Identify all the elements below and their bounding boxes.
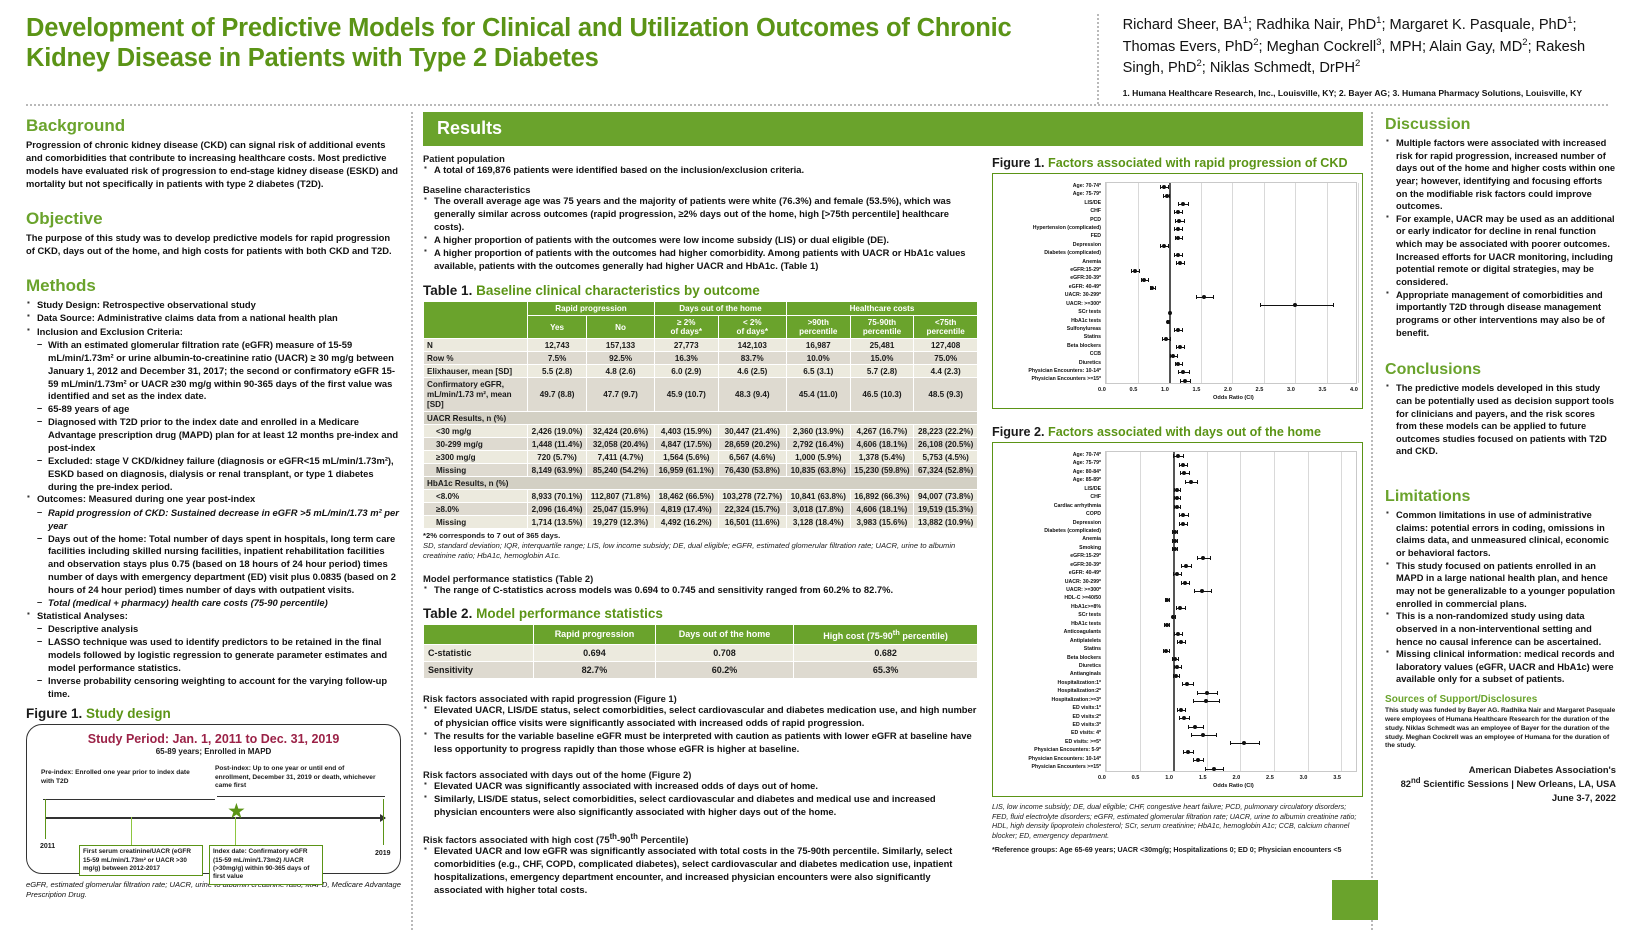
ci-cap [1184, 261, 1185, 265]
ci-cap [1188, 513, 1189, 517]
table2-row-label: C-statistic [424, 644, 534, 661]
table1-row-label: 30-299 mg/g [424, 438, 528, 451]
table1-cell: 94,007 (73.8%) [914, 490, 978, 503]
table2-body: C-statistic0.6940.7080.682Sensitivity82.… [424, 644, 978, 678]
forest-category-label: Depression [997, 519, 1105, 527]
list-item: Elevated UACR was significantly associat… [423, 780, 978, 793]
table1-cell: 15.0% [850, 352, 914, 365]
forest-category-label: UACR: 30-299* [997, 578, 1105, 586]
title-block: Development of Predictive Models for Cli… [26, 14, 1097, 104]
gridline [1232, 183, 1233, 383]
x-axis-tick-label: 2.0 [1224, 387, 1232, 393]
figure1-title: Factors associated with rapid progressio… [1048, 156, 1348, 170]
discussion-list: Multiple factors were associated with in… [1385, 137, 1616, 339]
odds-ratio-point [1204, 699, 1208, 703]
odds-ratio-point [1162, 185, 1166, 189]
ci-cap [1188, 202, 1189, 206]
odds-ratio-point [1177, 219, 1181, 223]
ci-cap [1177, 354, 1178, 358]
table1-cell: 6,567 (4.6%) [718, 451, 786, 464]
forest-category-label: Anemia [997, 535, 1105, 543]
study-design-figure: Study Period: Jan. 1, 2011 to Dec. 31, 2… [26, 724, 401, 874]
ci-cap [1179, 522, 1180, 526]
table1-cell: 8,933 (70.1%) [528, 490, 587, 503]
list-item: Diagnosed with T2D prior to the index da… [37, 416, 401, 455]
forest-category-label: Age: 80-84* [997, 468, 1105, 476]
table-row: HbA1c Results, n (%) [424, 477, 978, 490]
ci-cap [1181, 572, 1182, 576]
baseline-characteristics-table: Rapid progressionDays out of the homeHea… [423, 301, 978, 529]
table1-caption: Table 1. Baseline clinical characteristi… [423, 283, 978, 298]
gridline [1327, 183, 1328, 383]
list-item: Rapid progression of CKD: Sustained decr… [37, 507, 401, 533]
odds-ratio-point [1178, 261, 1182, 265]
ci-cap [1184, 345, 1185, 349]
table1-cell: 6.0 (2.9) [654, 365, 718, 378]
forest-plot-2: Age: 70-74*Age: 75-79*Age: 80-84*Age: 85… [997, 447, 1358, 792]
table-row: ≥8.0%2,096 (16.4%)25,047 (15.9%)4,819 (1… [424, 503, 978, 516]
ci-cap [1177, 530, 1178, 534]
ci-cap [1174, 210, 1175, 214]
rf-cost-list: Elevated UACR and low eGFR was significa… [423, 845, 978, 897]
ci-cap [1176, 606, 1177, 610]
table1-cell: 16,959 (61.1%) [654, 464, 718, 477]
x-axis-tick-label: 0.5 [1132, 775, 1140, 781]
table1-cell: 45.9 (10.7) [654, 378, 718, 412]
ci-cap [1181, 665, 1182, 669]
table1-body: N12,743157,13327,773142,10316,98725,4811… [424, 339, 978, 529]
forest-category-label: Age: 70-74* [997, 451, 1105, 459]
baseline-heading: Baseline characteristics [423, 184, 978, 195]
sources-heading: Sources of Support/Disclosures [1385, 694, 1616, 705]
ci-cap [1219, 699, 1220, 703]
figure-title: Study design [86, 706, 171, 721]
table-row: Missing1,714 (13.5%)19,279 (12.3%)4,492 … [424, 516, 978, 529]
odds-ratio-point [1162, 244, 1166, 248]
odds-ratio-point [1173, 539, 1177, 543]
table2-col-header: High cost (75-90th percentile) [794, 624, 978, 644]
forest-category-label: Age: 75-79* [997, 459, 1105, 467]
table-row: ≥300 mg/g720 (5.7%)7,411 (4.7%)1,564 (5.… [424, 451, 978, 464]
forest-axis-labels: Age: 70-74*Age: 75-79*LIS/DECHFPCDHypert… [997, 182, 1105, 384]
ci-cap [1182, 210, 1183, 214]
list-item: Common limitations in use of administrat… [1385, 509, 1616, 560]
table1-cell: 142,103 [718, 339, 786, 352]
forest-category-label: Depression [997, 241, 1105, 249]
ci-cap [1139, 269, 1140, 273]
table1-row-label: Row % [424, 352, 528, 365]
table2-cell: 82.7% [534, 661, 656, 678]
forest-category-label: LIS/DE [997, 485, 1105, 493]
post-index-arrow [217, 796, 385, 797]
odds-ratio-point [1164, 337, 1168, 341]
table1-cell: 2,426 (19.0%) [528, 425, 587, 438]
table1-cell: 2,792 (16.4%) [786, 438, 850, 451]
table-row: N12,743157,13327,773142,10316,98725,4811… [424, 339, 978, 352]
forest-category-label: LIS/DE [997, 199, 1105, 207]
gridline [1240, 452, 1241, 771]
table1-section-label: HbA1c Results, n (%) [424, 477, 978, 490]
odds-ratio-point [1242, 741, 1246, 745]
odds-ratio-point [1196, 758, 1200, 762]
poster-header: Development of Predictive Models for Cli… [0, 0, 1634, 104]
list-item: A higher proportion of patients with the… [423, 234, 978, 247]
forest-category-label: Physician Encounters: 5-9* [997, 746, 1105, 754]
forest-category-label: Diuretics [997, 359, 1105, 367]
ci-cap [1168, 244, 1169, 248]
table1-cell: 10,835 (63.8%) [786, 464, 850, 477]
table1-col-header: < 2%of days* [718, 316, 786, 339]
methods-list: Study Design: Retrospective observationa… [26, 299, 401, 339]
table1-cell: 10,841 (63.8%) [786, 490, 850, 503]
table1-cell: 8,149 (63.9%) [528, 464, 587, 477]
table1-cell: 4,492 (16.2%) [654, 516, 718, 529]
list-item: Descriptive analysis [37, 623, 401, 636]
list-item: Multiple factors were associated with in… [1385, 137, 1616, 213]
x-axis-tick-label: 3.5 [1319, 387, 1327, 393]
forest-category-label: Diabetes (complicated) [997, 249, 1105, 257]
odds-ratio-point [1182, 716, 1186, 720]
forest-category-label: Antianginals [997, 670, 1105, 678]
methods-outcomes: Outcomes: Measured during one year post-… [26, 493, 401, 506]
objective-text: The purpose of this study was to develop… [26, 232, 401, 258]
table1-cell: 4,267 (16.7%) [850, 425, 914, 438]
forest-category-label: CHF [997, 207, 1105, 215]
forest-category-label: Sulfonylureas [997, 325, 1105, 333]
table1-cell: 4,606 (18.1%) [850, 438, 914, 451]
table2-cell: 60.2% [655, 661, 793, 678]
ci-cap [1181, 581, 1182, 585]
conclusions-heading: Conclusions [1385, 361, 1616, 379]
table2-cell: 0.694 [534, 644, 656, 661]
patient-population-list: A total of 169,876 patients were identif… [423, 164, 978, 177]
x-axis-tick-label: 0.0 [1098, 387, 1106, 393]
ci-cap [1179, 513, 1180, 517]
ci-cap [1223, 767, 1224, 771]
table1-cell: 76,430 (53.8%) [718, 464, 786, 477]
list-item: This study focused on patients enrolled … [1385, 560, 1616, 611]
table1-row-label: Elixhauser, mean [SD] [424, 365, 528, 378]
table1-cell: 27,773 [654, 339, 718, 352]
table1-col-header: ≥ 2%of days* [654, 316, 718, 339]
list-item: A total of 169,876 patients were identif… [423, 164, 978, 177]
table1-cell: 13,882 (10.9%) [914, 516, 978, 529]
forest-category-label: Physician Encounters: 10-14* [997, 367, 1105, 375]
odds-ratio-point [1201, 733, 1205, 737]
baseline-list: The overall average age was 75 years and… [423, 195, 978, 273]
ci-cap [1168, 185, 1169, 189]
forest-category-label: HbA1c>=8% [997, 603, 1105, 611]
list-item: Data Source: Administrative claims data … [26, 312, 401, 325]
table2-col-header: Days out of the home [655, 624, 793, 644]
rf-rapid-list: Elevated UACR, LIS/DE status, select com… [423, 704, 978, 756]
post-index-annotation: Post-index: Up to one year or until end … [215, 765, 380, 790]
results-banner: Results [423, 112, 1363, 146]
ci-cap [1181, 564, 1182, 568]
results-text-column: Patient population A total of 169,876 pa… [423, 146, 978, 897]
ci-cap [1173, 454, 1174, 458]
forest-category-label: Diuretics [997, 662, 1105, 670]
ci-cap [1179, 674, 1180, 678]
forest-category-label: CHF [997, 493, 1105, 501]
ci-cap [1177, 539, 1178, 543]
forest-category-label: Antiplatelets [997, 637, 1105, 645]
table1-cell: 25,481 [850, 339, 914, 352]
table1-note1: *2% corresponds to 7 out of 365 days. [423, 531, 978, 541]
ci-cap [1180, 505, 1181, 509]
poster-root: Development of Predictive Models for Cli… [0, 0, 1634, 938]
ci-cap [1197, 480, 1198, 484]
gridline [1264, 183, 1265, 383]
forest-category-label: Beta blockers [997, 654, 1105, 662]
first-lab-box: First serum creatinine/UACR (eGFR 15-59 … [79, 845, 203, 876]
table1-cell: 1,714 (13.5%) [528, 516, 587, 529]
ci-cap [1187, 522, 1188, 526]
table1-row-label: N [424, 339, 528, 352]
list-item: Appropriate management of comorbidities … [1385, 289, 1616, 340]
table1-cell: 16,892 (66.3%) [850, 490, 914, 503]
table2-title: Model performance statistics [476, 606, 663, 621]
list-item: With an estimated glomerular filtration … [37, 339, 401, 403]
forest-category-label: Statins [997, 645, 1105, 653]
ci-cap [1179, 716, 1180, 720]
methods-criteria: With an estimated glomerular filtration … [37, 339, 401, 494]
table2-column-row: Rapid progressionDays out of the homeHig… [424, 624, 978, 644]
ci-cap [1333, 303, 1334, 307]
page-title: Development of Predictive Models for Cli… [26, 14, 1097, 73]
table1-cell: 47.7 (9.7) [587, 378, 655, 412]
table1-cell: 5.7 (2.8) [850, 365, 914, 378]
ci-cap [1180, 379, 1181, 383]
odds-ratio-point [1176, 236, 1180, 240]
table1-col-header: <75thpercentile [914, 316, 978, 339]
table2-cell: 65.3% [794, 661, 978, 678]
odds-ratio-point [1179, 708, 1183, 712]
forest-category-label: Age: 70-74* [997, 182, 1105, 190]
table1-cell: 1,000 (5.9%) [786, 451, 850, 464]
list-item: 65-89 years of age [37, 403, 401, 416]
affiliations: 1. Humana Healthcare Research, Inc., Lou… [1123, 88, 1616, 98]
ci-cap [1176, 261, 1177, 265]
ci-cap [1183, 750, 1184, 754]
ci-cap [1196, 295, 1197, 299]
figure1-caption: Figure 1. Factors associated with rapid … [992, 156, 1363, 170]
table1-row-label: Missing [424, 516, 528, 529]
column-left: Background Progression of chronic kidney… [26, 112, 411, 930]
odds-ratio-point [1175, 505, 1179, 509]
figure1-number: Figure 1. [992, 156, 1044, 170]
figures-column: Figure 1. Factors associated with rapid … [978, 146, 1363, 897]
ci-cap [1162, 337, 1163, 341]
ci-cap [1169, 623, 1170, 627]
timeline-axis [45, 817, 385, 819]
ci-cap [1210, 556, 1211, 560]
x-axis-tick-label: 2.5 [1266, 775, 1274, 781]
table1-row-label: <8.0% [424, 490, 528, 503]
ci-cap [1174, 328, 1175, 332]
forest-category-label: eGFR:30-39* [997, 274, 1105, 282]
table1-cell: 6.5 (3.1) [786, 365, 850, 378]
forest-category-label: FED [997, 232, 1105, 240]
list-item: LASSO technique was used to identify pre… [37, 636, 401, 675]
odds-ratio-point [1175, 488, 1179, 492]
list-item: The results for the variable baseline eG… [423, 730, 978, 756]
odds-ratio-point [1166, 320, 1170, 324]
odds-ratio-point [1176, 362, 1180, 366]
list-item: Study Design: Retrospective observationa… [26, 299, 401, 312]
forest-category-label: Cardiac arrhythmia [997, 502, 1105, 510]
odds-ratio-point [1182, 471, 1186, 475]
ci-cap [1180, 488, 1181, 492]
odds-ratio-point [1183, 379, 1187, 383]
table1-cell: 19,519 (15.3%) [914, 503, 978, 516]
table2-cell: 0.682 [794, 644, 978, 661]
x-axis-tick-label: 2.5 [1256, 387, 1264, 393]
ci-cap [1211, 589, 1212, 593]
forest-category-label: Physician Encounters: 10-14* [997, 755, 1105, 763]
forest-plot-area [1105, 451, 1357, 772]
ci-cap [1176, 345, 1177, 349]
gridline [1138, 183, 1139, 383]
ci-cap [1178, 370, 1179, 374]
table1-cell: 5,753 (4.5%) [914, 451, 978, 464]
table1-head: Rapid progressionDays out of the homeHea… [424, 302, 978, 339]
x-axis-tick-label: 3.5 [1333, 775, 1341, 781]
ci-cap [1260, 303, 1261, 307]
discussion-heading: Discussion [1385, 116, 1616, 134]
table1-cell: 7.5% [528, 352, 587, 365]
forest-category-label: ED visits: 4* [997, 729, 1105, 737]
x-axis-label: Odds Ratio (CI) [1213, 783, 1254, 789]
index-date-star-icon: ★ [227, 801, 246, 822]
table1-cell: 2,096 (16.4%) [528, 503, 587, 516]
ci-cap [1187, 463, 1188, 467]
odds-ratio-point [1178, 606, 1182, 610]
methods-heading: Methods [26, 276, 401, 296]
list-item: Excluded: stage V CKD/kidney failure (di… [37, 455, 401, 494]
author-list: Richard Sheer, BA1; Radhika Nair, PhD1; … [1123, 14, 1616, 79]
odds-ratio-point [1202, 295, 1206, 299]
table1-cell: 92.5% [587, 352, 655, 365]
x-axis-tick-label: 1.5 [1199, 775, 1207, 781]
odds-ratio-point [1181, 513, 1185, 517]
ci-cap [1197, 691, 1198, 695]
odds-ratio-point [1181, 202, 1185, 206]
odds-ratio-point [1201, 556, 1205, 560]
table1-cell: 22,324 (15.7%) [718, 503, 786, 516]
list-item: The overall average age was 75 years and… [423, 195, 978, 234]
ci-cap [1177, 547, 1178, 551]
forest-category-label: eGFR:15-29* [997, 552, 1105, 560]
pre-index-arrow [43, 799, 215, 800]
ci-cap [1175, 219, 1176, 223]
forest-category-label: Smoking [997, 544, 1105, 552]
odds-ratio-point [1176, 210, 1180, 214]
table-row: Missing8,149 (63.9%)85,240 (54.2%)16,959… [424, 464, 978, 477]
odds-ratio-point [1175, 665, 1179, 669]
ci-cap [1185, 480, 1186, 484]
odds-ratio-point [1176, 253, 1180, 257]
table1-row-label: ≥300 mg/g [424, 451, 528, 464]
odds-ratio-point [1150, 286, 1154, 290]
table1-cell: 28,659 (20.2%) [718, 438, 786, 451]
table1-cell: 32,058 (20.4%) [587, 438, 655, 451]
table1-cell: 1,564 (5.6%) [654, 451, 718, 464]
forest-category-label: UACR: 30-299* [997, 291, 1105, 299]
x-axis-tick-label: 2.0 [1232, 775, 1240, 781]
table1-cell: 12,743 [528, 339, 587, 352]
table1-group-row: Rapid progressionDays out of the homeHea… [424, 302, 978, 316]
forest-category-label: UACR: >=300* [997, 586, 1105, 594]
list-item: Elevated UACR and low eGFR was significa… [423, 845, 978, 897]
table1-cell: 4,847 (17.5%) [654, 438, 718, 451]
table1-group-header: Rapid progression [528, 302, 655, 316]
odds-ratio-point [1293, 303, 1297, 307]
odds-ratio-point [1176, 227, 1180, 231]
ci-cap [1178, 657, 1179, 661]
ci-cap [1182, 253, 1183, 257]
table1-cell: 30,447 (21.4%) [718, 425, 786, 438]
list-item: Outcomes: Measured during one year post-… [26, 493, 401, 506]
ci-cap [1169, 649, 1170, 653]
ci-cap [1182, 227, 1183, 231]
table1-cell: 10.0% [786, 352, 850, 365]
odds-ratio-point [1184, 564, 1188, 568]
table1-cell: 4.4 (2.3) [914, 365, 978, 378]
table-row: <8.0%8,933 (70.1%)112,807 (71.8%)18,462 … [424, 490, 978, 503]
table1-title: Baseline clinical characteristics by out… [476, 283, 760, 298]
forest-plot-area [1105, 182, 1357, 384]
table1-cell: 3,983 (15.6%) [850, 516, 914, 529]
ci-cap [1189, 581, 1190, 585]
patient-population-heading: Patient population [423, 153, 978, 164]
table1-cell: 46.5 (10.3) [850, 378, 914, 412]
methods-stats: Statistical Analyses: [26, 610, 401, 623]
ci-cap [1230, 741, 1231, 745]
table-row: Sensitivity82.7%60.2%65.3% [424, 661, 978, 678]
list-item: Inverse probability censoring weighting … [37, 675, 401, 701]
list-item: The predictive models developed in this … [1385, 382, 1616, 458]
forest-category-label: HDL-C >=40/50 [997, 594, 1105, 602]
forest-plot-1: Age: 70-74*Age: 75-79*LIS/DECHFPCDHypert… [997, 178, 1358, 404]
odds-ratio-point [1176, 328, 1180, 332]
odds-ratio-point [1193, 725, 1197, 729]
odds-ratio-point [1179, 640, 1183, 644]
forest-category-label: eGFR: 40-49* [997, 569, 1105, 577]
list-item: Total (medical + pharmacy) health care c… [37, 597, 401, 610]
conference-line3: June 3-7, 2022 [1385, 791, 1616, 804]
forest-category-label: Diabetes (complicated) [997, 527, 1105, 535]
table-row: Row %7.5%92.5%16.3%83.7%10.0%15.0%75.0% [424, 352, 978, 365]
table1-cell: 157,133 [587, 339, 655, 352]
table1-cell: 1,448 (11.4%) [528, 438, 587, 451]
forest-category-label: ED visits:2* [997, 713, 1105, 721]
ci-cap [1259, 741, 1260, 745]
ci-cap [1191, 564, 1192, 568]
table1-cell: 2,360 (13.9%) [786, 425, 850, 438]
table1-cell: 3,128 (18.4%) [786, 516, 850, 529]
table1-corner [424, 302, 528, 339]
table1-cell: 4,606 (18.1%) [850, 503, 914, 516]
year-start-label: 2011 [40, 843, 55, 850]
forest-category-label: Beta blockers [997, 342, 1105, 350]
rf-rapid-heading: Risk factors associated with rapid progr… [423, 693, 978, 704]
table1-cell: 28,223 (22.2%) [914, 425, 978, 438]
forest-category-label: HbA1c tests [997, 317, 1105, 325]
table1-cell: 75.0% [914, 352, 978, 365]
header-divider [26, 104, 1608, 106]
odds-ratio-point [1183, 581, 1187, 585]
